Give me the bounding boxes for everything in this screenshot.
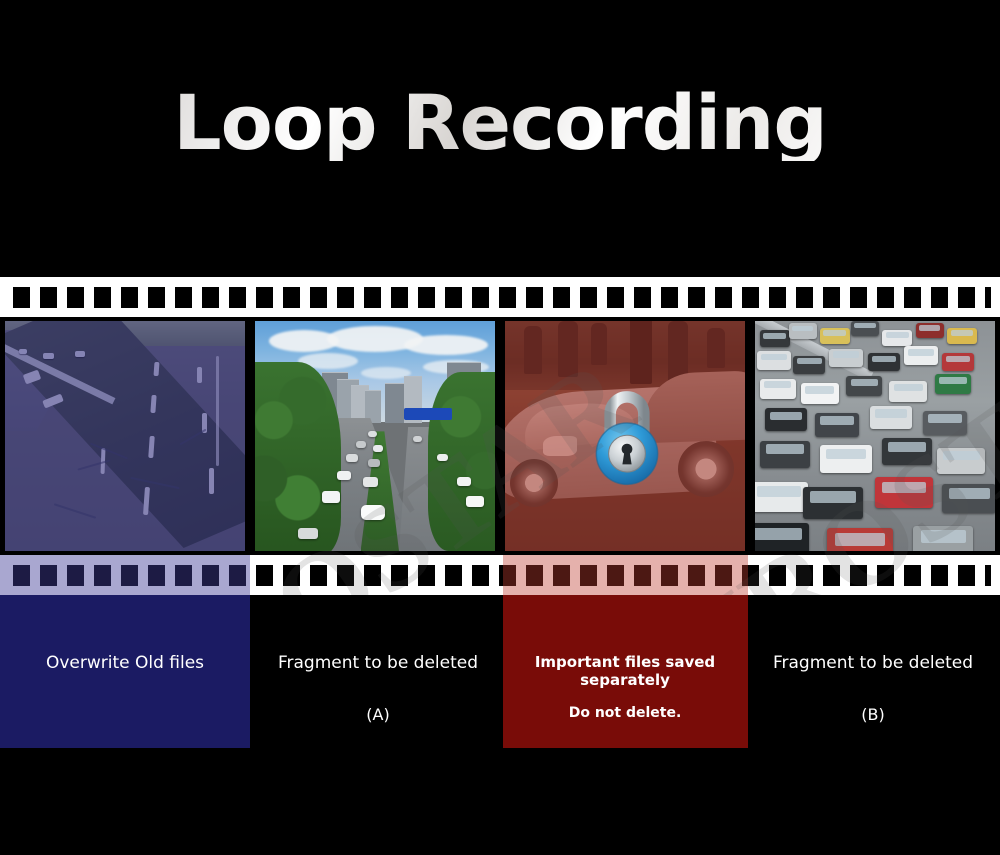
jam-car	[935, 374, 971, 394]
jam-car	[760, 330, 790, 347]
jam-car	[820, 445, 872, 473]
sprocket-holes-bottom	[13, 565, 991, 586]
filmstrip-bottom-band	[0, 555, 1000, 595]
filmstrip-top-band	[0, 277, 1000, 317]
jam-car	[942, 484, 995, 513]
page-title: Loop Recording	[0, 85, 1000, 161]
frame-4-image	[755, 321, 995, 551]
caption-3-primary: Important files saved separately	[500, 653, 750, 689]
car	[437, 454, 448, 461]
jam-car	[904, 346, 938, 365]
trees-right	[428, 372, 495, 551]
jam-car	[947, 328, 977, 344]
jam-car	[755, 523, 809, 551]
jam-car	[937, 448, 985, 474]
jam-car	[882, 330, 912, 346]
jam-car	[760, 379, 796, 399]
caption-1-primary: Overwrite Old files	[0, 653, 250, 673]
jam-car	[793, 356, 825, 374]
jam-car	[757, 351, 791, 370]
car	[413, 436, 422, 442]
caption-4-primary: Fragment to be deleted	[748, 653, 998, 673]
car	[457, 477, 471, 486]
padlock-icon	[581, 377, 673, 492]
caption-2-primary: Fragment to be deleted	[253, 653, 503, 673]
jam-car	[765, 408, 807, 431]
car	[346, 454, 358, 462]
car	[322, 491, 340, 503]
car	[363, 477, 378, 487]
jam-car	[916, 323, 944, 338]
film-frame-3[interactable]	[500, 317, 750, 555]
caption-strip: Overwrite Old files Fragment to be delet…	[0, 595, 1000, 855]
frame-1-blue-tint	[5, 321, 245, 551]
car	[361, 505, 385, 520]
building	[385, 383, 405, 423]
car	[298, 528, 318, 539]
frame-3-image	[505, 321, 745, 551]
jam-car	[923, 411, 967, 435]
filmstrip	[0, 277, 1000, 595]
jam-car	[882, 438, 932, 465]
film-frame-2[interactable]	[250, 317, 500, 555]
film-frame-4[interactable]	[750, 317, 1000, 555]
jam-car	[942, 353, 974, 371]
jam-car	[755, 482, 808, 512]
highway-sign	[404, 408, 452, 420]
caption-3-secondary: Do not delete.	[500, 705, 750, 721]
filmstrip-frames	[0, 317, 1000, 555]
sprocket-holes-top	[13, 287, 991, 308]
jam-car	[815, 413, 859, 437]
car	[368, 459, 380, 467]
jam-car	[875, 477, 933, 508]
title-banner: Loop Recording	[0, 0, 1000, 277]
caption-2-secondary: (A)	[253, 705, 503, 724]
jam-car	[829, 349, 863, 367]
trees-left	[255, 362, 341, 551]
jam-car	[851, 321, 879, 336]
jam-car	[846, 376, 882, 396]
jam-car	[913, 526, 973, 551]
film-frame-1[interactable]	[0, 317, 250, 555]
frame-2-image	[255, 321, 495, 551]
jam-car	[827, 528, 893, 551]
car	[368, 431, 377, 437]
car	[337, 471, 351, 480]
scene-traffic-jam	[755, 321, 995, 551]
scene-city-highway	[255, 321, 495, 551]
frame-1-image	[5, 321, 245, 551]
jam-car	[801, 383, 839, 404]
jam-car	[803, 487, 863, 519]
jam-car	[868, 353, 900, 371]
jam-car	[889, 381, 927, 402]
jam-car	[820, 328, 850, 344]
cloud	[404, 335, 488, 355]
car	[466, 496, 484, 507]
jam-car	[870, 406, 912, 429]
car	[373, 445, 383, 452]
caption-4-secondary: (B)	[748, 705, 998, 724]
car	[356, 441, 366, 448]
jam-car	[789, 323, 817, 339]
jam-car	[760, 441, 810, 468]
